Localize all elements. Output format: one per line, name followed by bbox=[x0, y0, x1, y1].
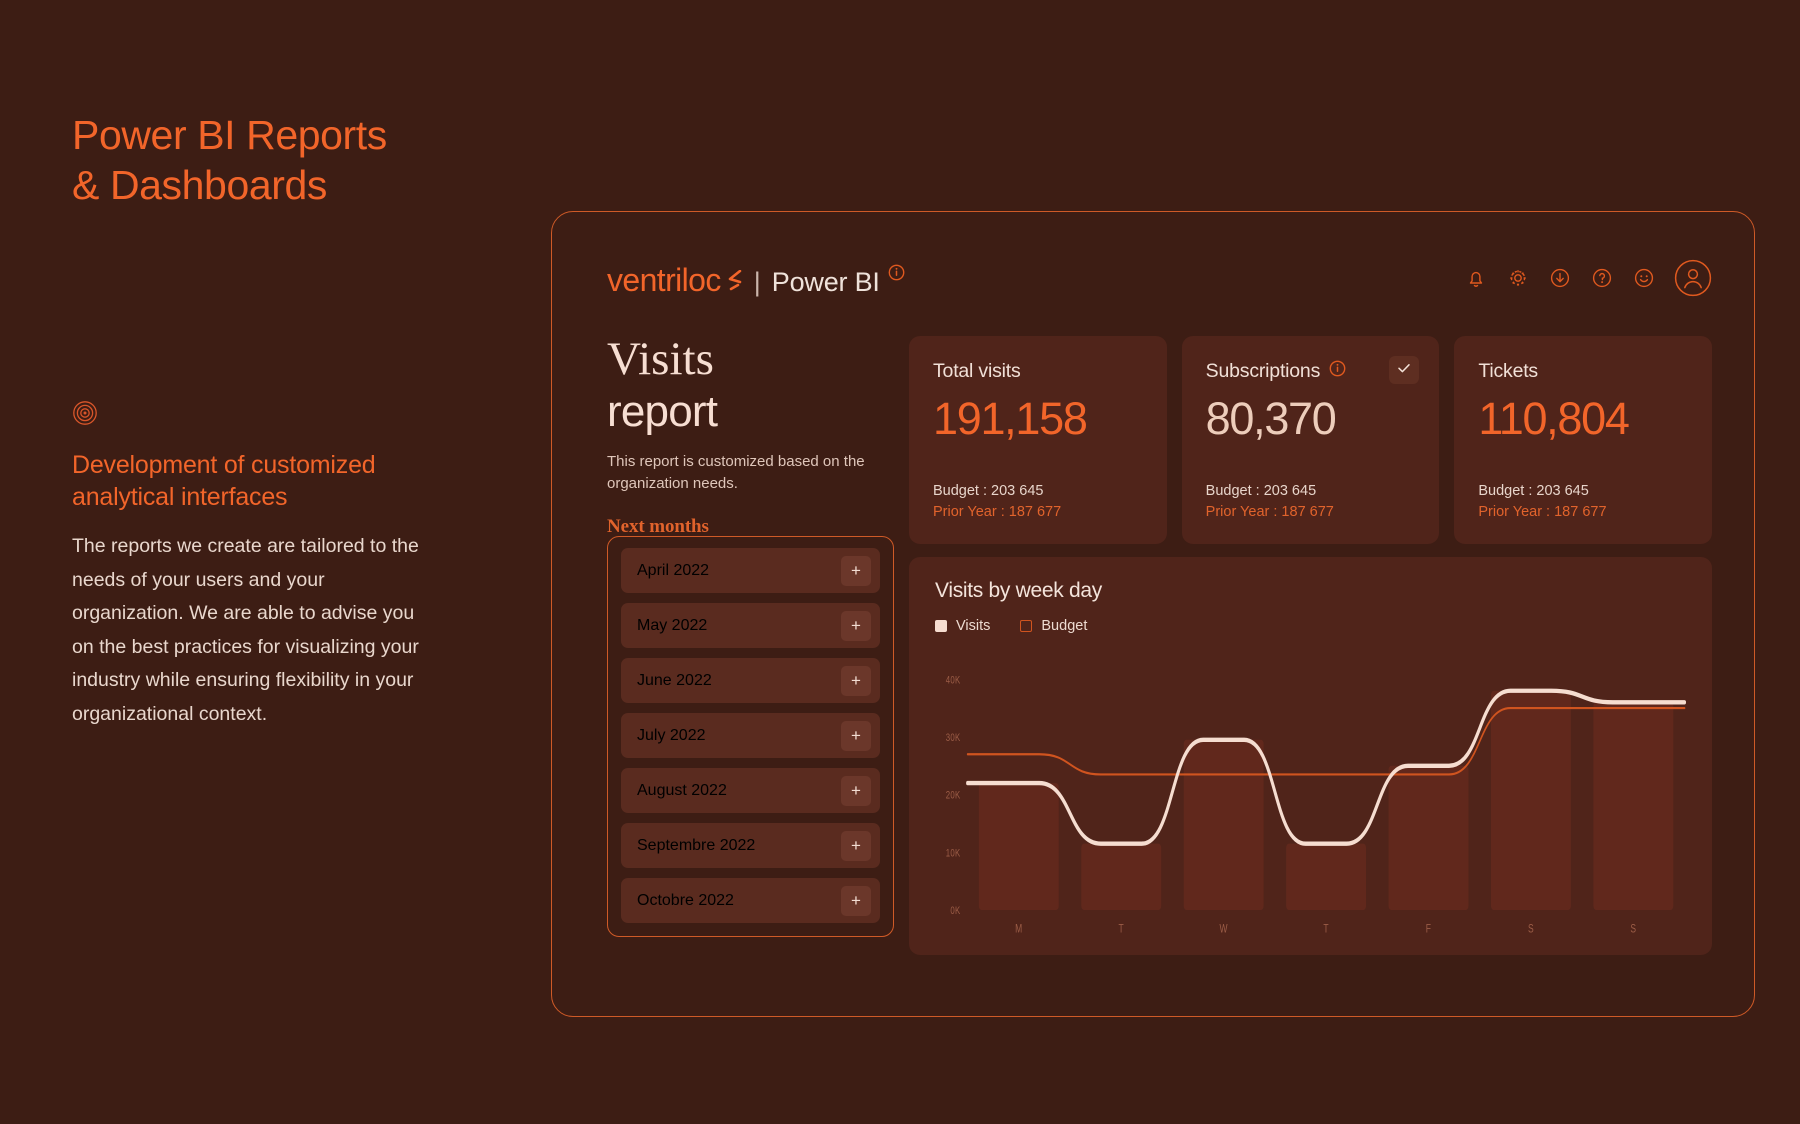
legend-label: Budget bbox=[1041, 618, 1087, 634]
svg-text:S: S bbox=[1630, 922, 1636, 936]
bell-icon[interactable] bbox=[1464, 266, 1488, 295]
brand-name: ventriloc bbox=[607, 262, 721, 299]
legend-item-visits[interactable]: Visits bbox=[935, 618, 990, 634]
svg-text:10K: 10K bbox=[946, 847, 961, 860]
visits-by-week-day-chart: 0K10K20K30K40KMTWTFSS bbox=[935, 652, 1686, 941]
kpi-prior-year: Prior Year : 187 677 bbox=[1478, 502, 1606, 524]
dashboard-panel: ventriloc | Power BI bbox=[551, 211, 1755, 1017]
svg-text:T: T bbox=[1118, 922, 1124, 936]
svg-text:W: W bbox=[1220, 922, 1228, 936]
legend-item-budget[interactable]: Budget bbox=[1020, 618, 1087, 634]
confirm-button[interactable] bbox=[1389, 356, 1419, 384]
svg-text:M: M bbox=[1015, 922, 1022, 936]
kpi-footer: Budget : 203 645 Prior Year : 187 677 bbox=[933, 481, 1061, 525]
bracket-mark-icon bbox=[725, 270, 742, 292]
month-list: April 2022 + May 2022 + June 2022 + July… bbox=[607, 536, 894, 937]
svg-text:40K: 40K bbox=[946, 674, 961, 687]
add-month-button[interactable]: + bbox=[841, 611, 871, 641]
help-circle-icon[interactable] bbox=[1590, 266, 1614, 295]
section-body: The reports we create are tailored to th… bbox=[72, 530, 437, 731]
chart-plot-area: 0K10K20K30K40KMTWTFSS bbox=[935, 652, 1686, 941]
kpi-footer: Budget : 203 645 Prior Year : 187 677 bbox=[1478, 481, 1606, 525]
kpi-prior-year: Prior Year : 187 677 bbox=[1206, 502, 1334, 524]
gear-icon[interactable] bbox=[1506, 266, 1530, 295]
kpi-prior-year: Prior Year : 187 677 bbox=[933, 502, 1061, 524]
legend-label: Visits bbox=[956, 618, 990, 634]
kpi-footer: Budget : 203 645 Prior Year : 187 677 bbox=[1206, 481, 1334, 525]
kpi-budget: Budget : 203 645 bbox=[1206, 481, 1334, 503]
month-label: August 2022 bbox=[637, 782, 727, 800]
kpi-header: Subscriptions bbox=[1206, 358, 1416, 384]
section-heading: Development of customized analytical int… bbox=[72, 450, 452, 513]
brand-logo[interactable]: ventriloc | Power BI bbox=[607, 262, 905, 299]
chart-legend: Visits Budget bbox=[935, 618, 1686, 634]
kpi-card-row: Total visits 191,158 Budget : 203 645 Pr… bbox=[909, 336, 1712, 544]
kpi-value: 110,804 bbox=[1478, 396, 1688, 441]
info-circle-icon[interactable] bbox=[1329, 360, 1346, 382]
app-bar: ventriloc | Power BI bbox=[607, 257, 1712, 303]
check-icon bbox=[1396, 360, 1412, 381]
add-month-button[interactable]: + bbox=[841, 831, 871, 861]
kpi-card-total-visits[interactable]: Total visits 191,158 Budget : 203 645 Pr… bbox=[909, 336, 1167, 544]
kpi-value: 80,370 bbox=[1206, 396, 1416, 441]
list-item[interactable]: June 2022 + bbox=[621, 658, 880, 703]
month-label: Septembre 2022 bbox=[637, 837, 755, 855]
info-circle-icon[interactable] bbox=[888, 264, 905, 286]
list-item[interactable]: July 2022 + bbox=[621, 713, 880, 758]
kpi-label: Subscriptions bbox=[1206, 360, 1320, 383]
svg-text:T: T bbox=[1323, 922, 1329, 936]
list-item[interactable]: August 2022 + bbox=[621, 768, 880, 813]
legend-swatch-icon bbox=[935, 620, 947, 632]
app-bar-icons bbox=[1464, 259, 1712, 302]
kpi-header: Tickets bbox=[1478, 358, 1688, 384]
svg-text:0K: 0K bbox=[950, 905, 960, 918]
kpi-value: 191,158 bbox=[933, 396, 1143, 441]
download-circle-icon[interactable] bbox=[1548, 266, 1572, 295]
kpi-budget: Budget : 203 645 bbox=[1478, 481, 1606, 503]
chart-title: Visits by week day bbox=[935, 579, 1686, 603]
target-icon bbox=[72, 400, 98, 426]
add-month-button[interactable]: + bbox=[841, 776, 871, 806]
svg-text:30K: 30K bbox=[946, 732, 961, 745]
intro-column: Power BI Reports & Dashboards Developmen… bbox=[72, 110, 472, 210]
kpi-budget: Budget : 203 645 bbox=[933, 481, 1061, 503]
report-header: Visits report This report is customized … bbox=[607, 336, 897, 538]
next-months-label: Next months bbox=[607, 516, 897, 538]
month-label: July 2022 bbox=[637, 727, 706, 745]
user-avatar-icon[interactable] bbox=[1674, 259, 1712, 302]
list-item[interactable]: Septembre 2022 + bbox=[621, 823, 880, 868]
list-item[interactable]: May 2022 + bbox=[621, 603, 880, 648]
kpi-label: Total visits bbox=[933, 360, 1021, 383]
svg-text:20K: 20K bbox=[946, 789, 961, 802]
brand-separator: | bbox=[754, 267, 761, 298]
svg-text:F: F bbox=[1426, 922, 1432, 936]
month-label: May 2022 bbox=[637, 617, 707, 635]
report-title-secondary: report bbox=[607, 387, 897, 436]
report-subtitle: This report is customized based on the o… bbox=[607, 451, 875, 494]
add-month-button[interactable]: + bbox=[841, 721, 871, 751]
kpi-card-subscriptions[interactable]: Subscriptions 80,370 Budge bbox=[1182, 336, 1440, 544]
smiley-icon[interactable] bbox=[1632, 266, 1656, 295]
kpi-header: Total visits bbox=[933, 358, 1143, 384]
add-month-button[interactable]: + bbox=[841, 666, 871, 696]
kpi-label: Tickets bbox=[1478, 360, 1538, 383]
add-month-button[interactable]: + bbox=[841, 886, 871, 916]
svg-text:S: S bbox=[1528, 922, 1534, 936]
chart-panel: Visits by week day Visits Budget 0K10K20… bbox=[909, 557, 1712, 955]
kpi-card-tickets[interactable]: Tickets 110,804 Budget : 203 645 Prior Y… bbox=[1454, 336, 1712, 544]
page-title: Power BI Reports & Dashboards bbox=[72, 110, 472, 210]
legend-swatch-icon bbox=[1020, 620, 1032, 632]
product-name: Power BI bbox=[772, 267, 880, 298]
month-label: June 2022 bbox=[637, 672, 712, 690]
month-label: Octobre 2022 bbox=[637, 892, 734, 910]
list-item[interactable]: April 2022 + bbox=[621, 548, 880, 593]
list-item[interactable]: Octobre 2022 + bbox=[621, 878, 880, 923]
month-label: April 2022 bbox=[637, 562, 709, 580]
report-title-primary: Visits bbox=[607, 336, 897, 383]
add-month-button[interactable]: + bbox=[841, 556, 871, 586]
